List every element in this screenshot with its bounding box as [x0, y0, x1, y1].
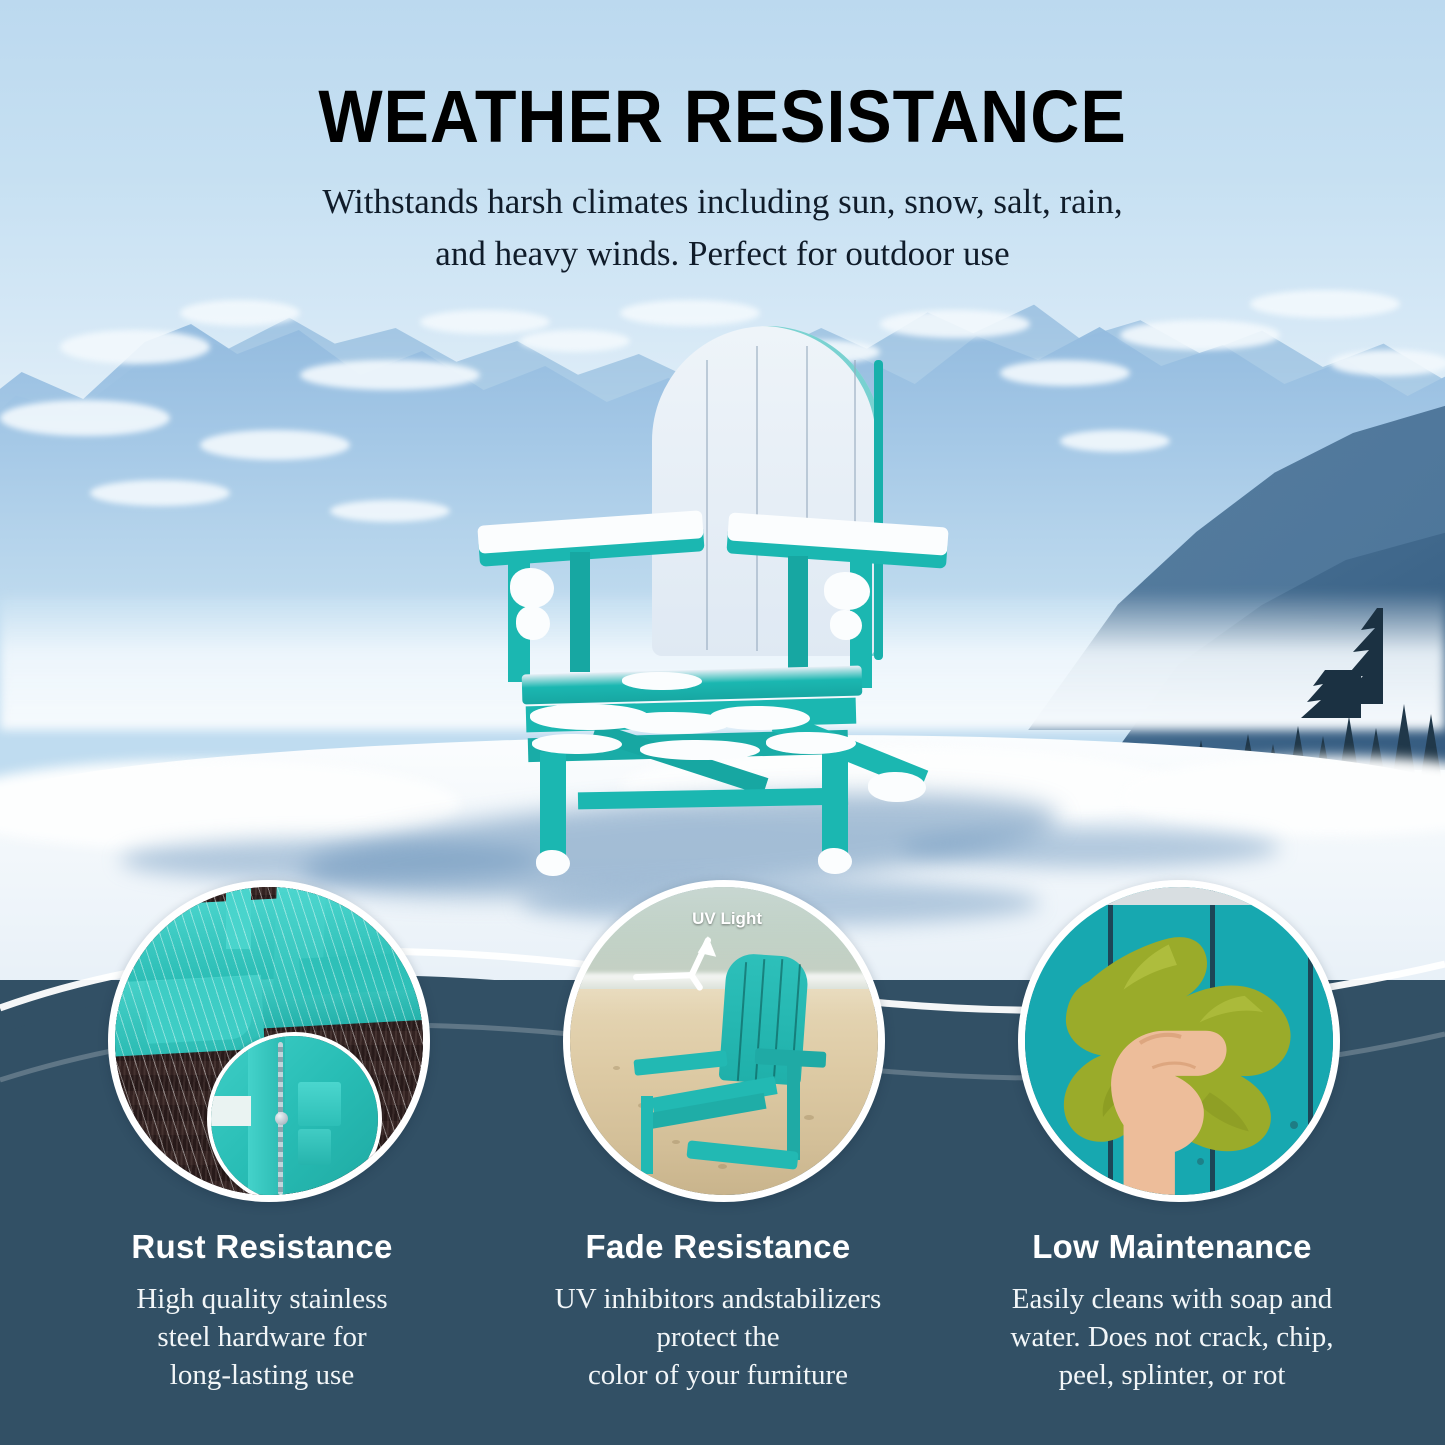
feature-image-rust-resistance	[108, 880, 430, 1202]
foreground-conifer	[1265, 600, 1385, 730]
feature-title-rust-resistance: Rust Resistance	[52, 1228, 472, 1266]
uv-light-arrow-icon	[632, 930, 755, 992]
feature-title-fade-resistance: Fade Resistance	[508, 1228, 928, 1266]
feature-body-line-3: long-lasting use	[42, 1356, 482, 1394]
feature-body-line-1: Easily cleans with soap and	[952, 1280, 1392, 1318]
feature-body-fade-resistance: UV inhibitors andstabilizers protect the…	[498, 1280, 938, 1394]
weather-resistance-infographic: UV Light WEATHER	[0, 0, 1445, 1445]
feature-image-low-maintenance	[1018, 880, 1340, 1202]
subtitle-line-2: and heavy winds. Perfect for outdoor use	[0, 228, 1445, 280]
feature-body-line-2: steel hardware for	[42, 1318, 482, 1356]
subtitle-line-1: Withstands harsh climates including sun,…	[0, 176, 1445, 228]
feature-body-low-maintenance: Easily cleans with soap and water. Does …	[952, 1280, 1392, 1394]
hero-adirondack-chair	[470, 320, 950, 840]
feature-body-line-3: peel, splinter, or rot	[952, 1356, 1392, 1394]
feature-image-fade-resistance: UV Light	[563, 880, 885, 1202]
page-subtitle: Withstands harsh climates including sun,…	[0, 176, 1445, 280]
feature-title-low-maintenance: Low Maintenance	[962, 1228, 1382, 1266]
feature-body-line-3: color of your furniture	[498, 1356, 938, 1394]
uv-light-label: UV Light	[638, 909, 817, 929]
hardware-inset-circle	[207, 1032, 381, 1202]
feature-body-line-1: High quality stainless	[42, 1280, 482, 1318]
page-title: WEATHER RESISTANCE	[58, 74, 1387, 159]
feature-body-line-2: water. Does not crack, chip,	[952, 1318, 1392, 1356]
feature-body-line-1: UV inhibitors andstabilizers	[498, 1280, 938, 1318]
chair-backrest-edge	[874, 360, 883, 660]
feature-body-line-2: protect the	[498, 1318, 938, 1356]
hand	[1025, 887, 1333, 1195]
feature-body-rust-resistance: High quality stainless steel hardware fo…	[42, 1280, 482, 1394]
